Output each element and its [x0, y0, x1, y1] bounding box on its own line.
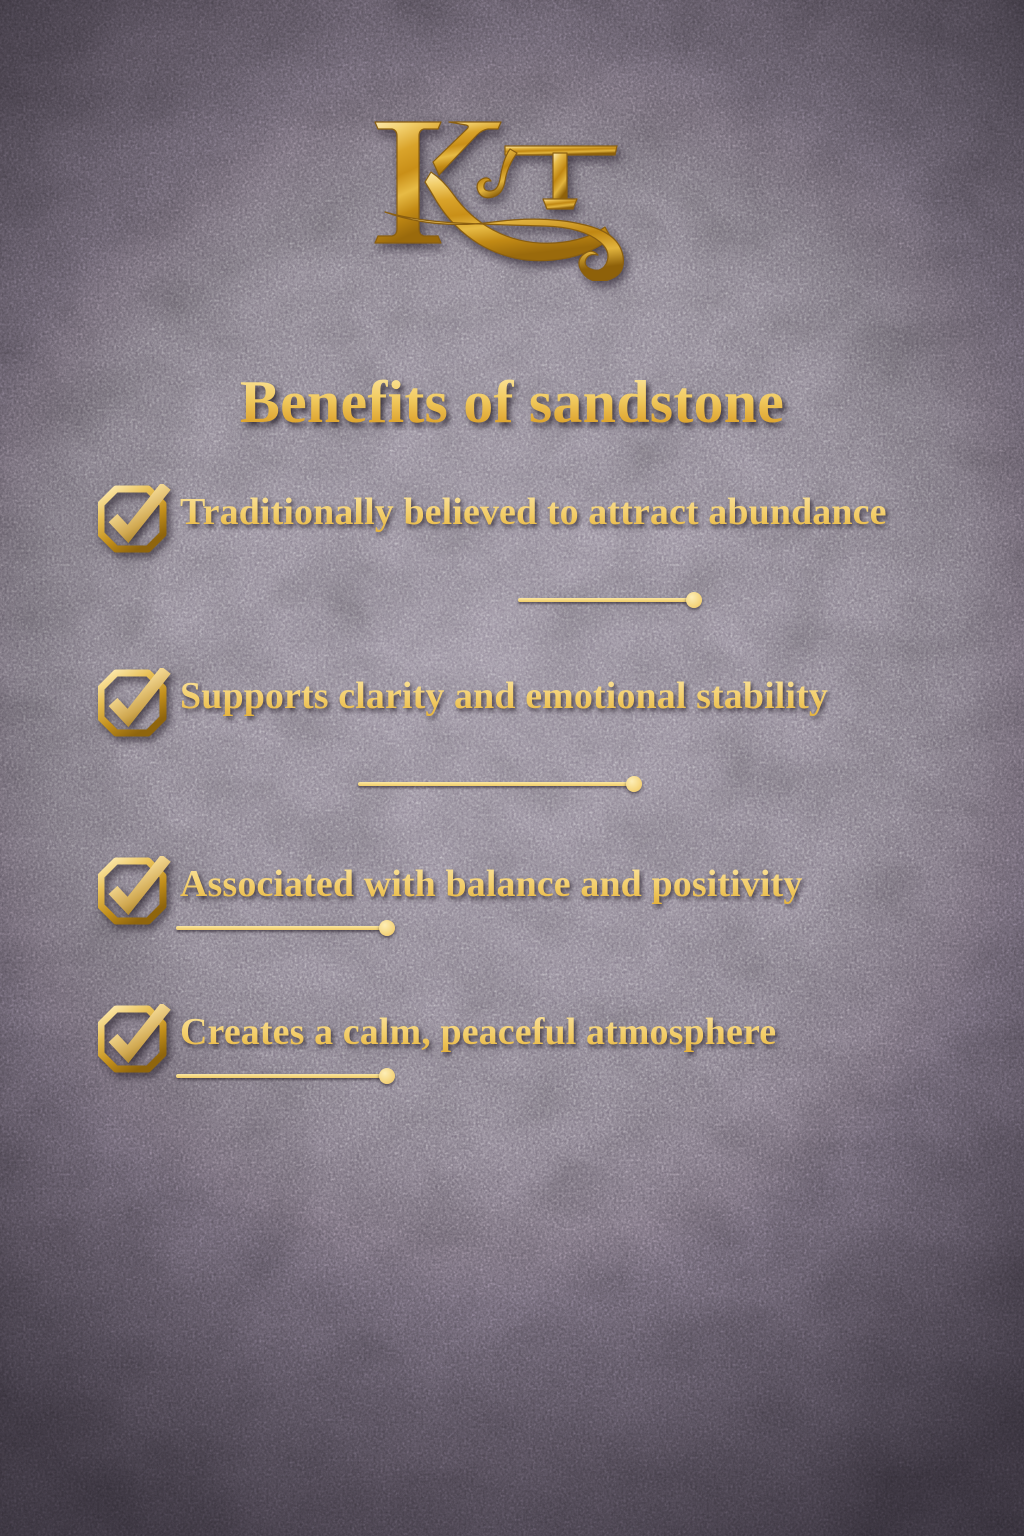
brand-logo	[0, 106, 1024, 286]
connector-dot	[379, 920, 395, 936]
connector-dot	[686, 592, 702, 608]
check-box-icon	[98, 484, 172, 558]
benefits-list: Traditionally believed to attract abunda…	[98, 480, 978, 1148]
list-item-label: Creates a calm, peaceful atmosphere	[180, 1006, 978, 1060]
check-box-icon	[98, 1004, 172, 1078]
list-item-body: Creates a calm, peaceful atmosphere	[172, 1000, 978, 1060]
check-box-icon	[98, 668, 172, 742]
connector-line	[176, 1068, 395, 1084]
connector-line	[358, 776, 642, 792]
poster-canvas: Benefits of sandstone	[0, 0, 1024, 1536]
list-item-label: Associated with balance and positivity	[180, 858, 978, 912]
connector-line	[518, 592, 702, 608]
list-item-body: Associated with balance and positivity	[172, 852, 978, 912]
list-item-body: Traditionally believed to attract abunda…	[172, 480, 978, 540]
list-item-body: Supports clarity and emotional stability	[172, 664, 978, 724]
connector-dot	[626, 776, 642, 792]
connector-bar	[358, 782, 628, 786]
list-item: Creates a calm, peaceful atmosphere	[98, 1000, 978, 1132]
page-title: Benefits of sandstone	[0, 372, 1024, 432]
list-item: Supports clarity and emotional stability	[98, 664, 978, 836]
connector-line	[176, 920, 395, 936]
connector-bar	[176, 926, 381, 930]
connector-bar	[518, 598, 688, 602]
list-item: Traditionally believed to attract abunda…	[98, 480, 978, 648]
list-item-label: Supports clarity and emotional stability	[180, 670, 978, 724]
kn-monogram-logo-icon	[357, 106, 667, 281]
check-box-icon	[98, 856, 172, 930]
list-item: Associated with balance and positivity	[98, 852, 978, 984]
list-item-label: Traditionally believed to attract abunda…	[180, 486, 978, 540]
connector-dot	[379, 1068, 395, 1084]
connector-bar	[176, 1074, 381, 1078]
